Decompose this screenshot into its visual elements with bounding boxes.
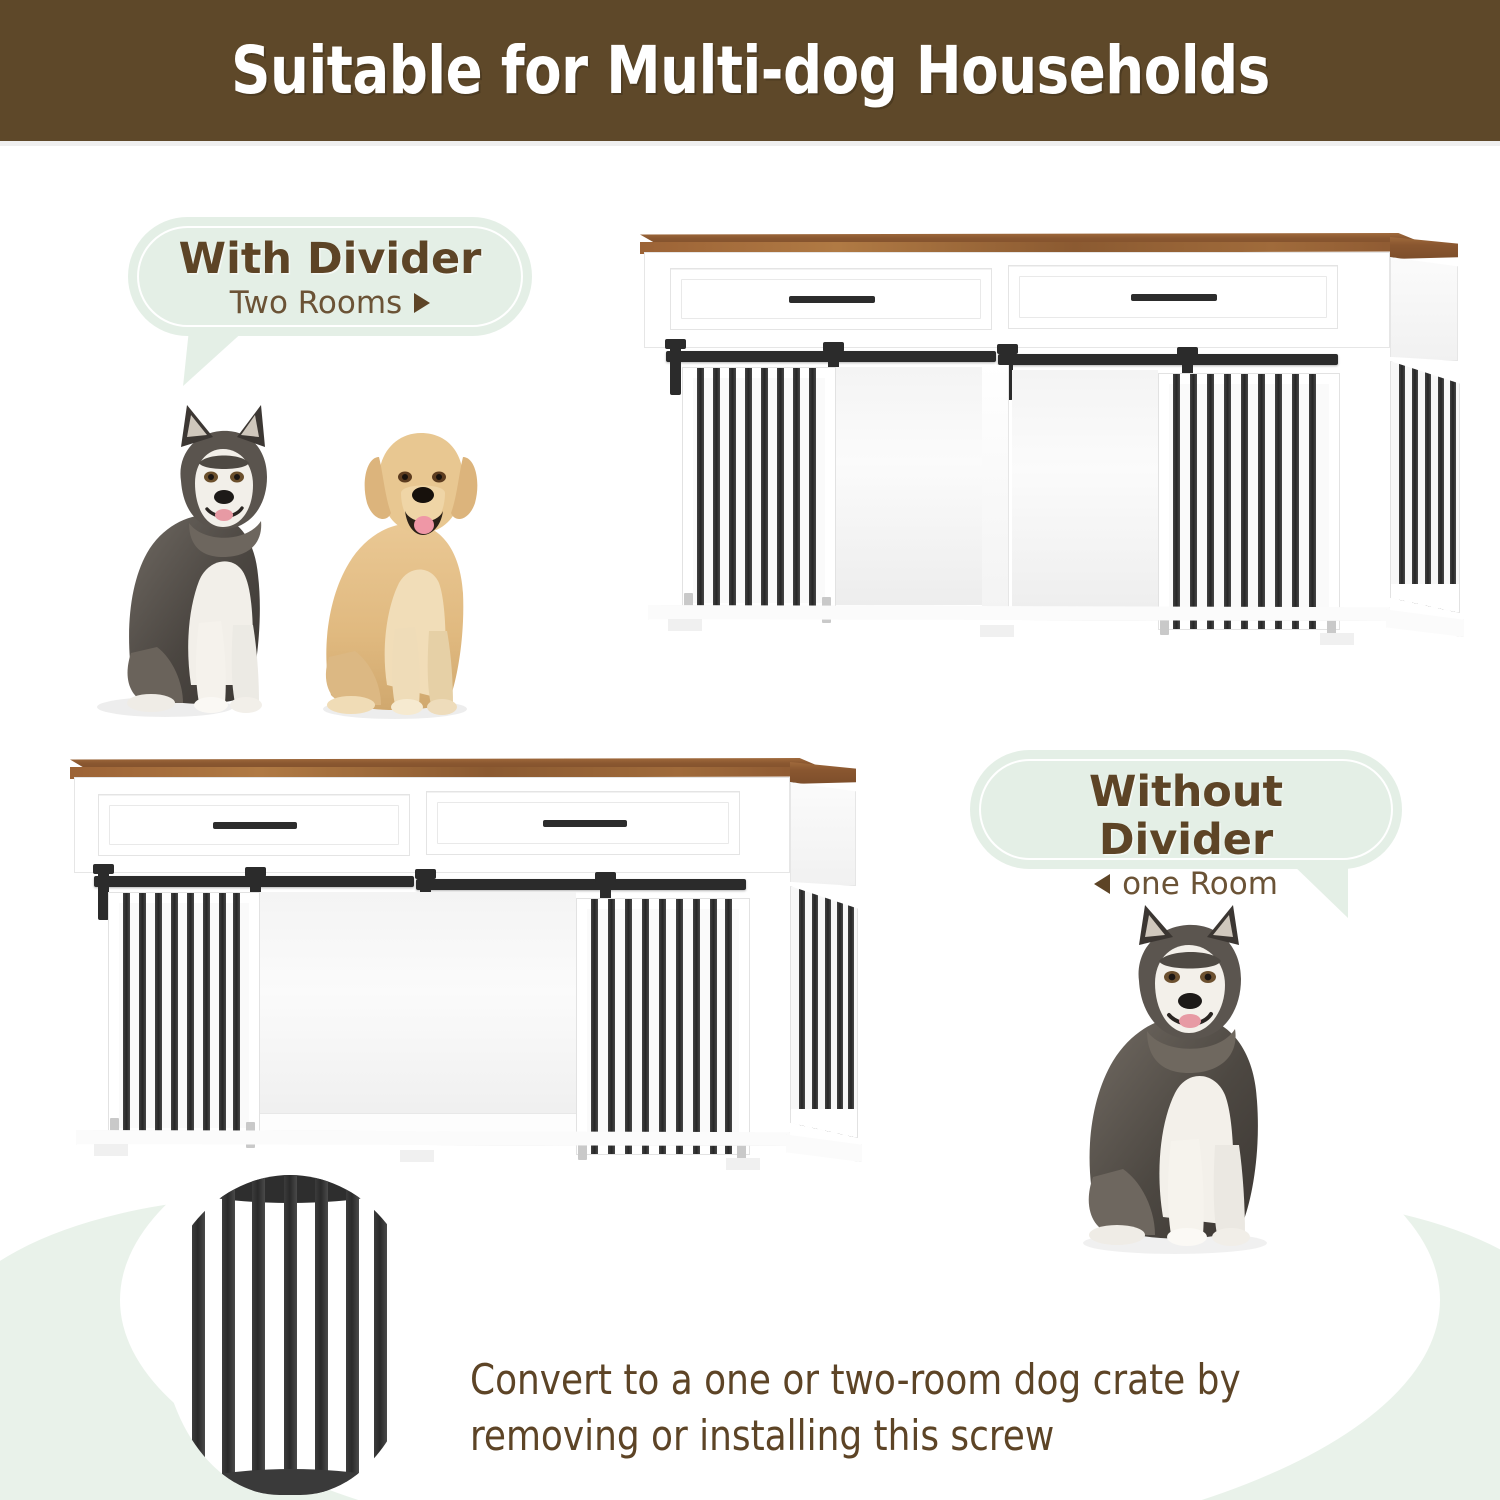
barn-door-hanger-left-a xyxy=(670,343,681,395)
drawer-left[interactable] xyxy=(670,268,992,330)
cabinet-drawer-band-right-side xyxy=(1390,257,1458,361)
sliding-door-left[interactable] xyxy=(682,367,836,614)
crate-foot-right-2 xyxy=(726,1158,760,1170)
dog-pair-illustration xyxy=(95,385,515,725)
caption-line-2: removing or installing this screw xyxy=(470,1408,1401,1464)
without-divider-title: Without Divider xyxy=(1004,768,1368,864)
sliding-door-left-2-bars xyxy=(109,893,259,1138)
with-divider-bubble-tail xyxy=(183,330,245,386)
drawer-left-2-handle[interactable] xyxy=(213,822,297,829)
triangle-left-icon xyxy=(1094,874,1110,894)
dog-photo-single xyxy=(1035,905,1315,1260)
drawer-right-handle[interactable] xyxy=(1131,294,1217,301)
room-divider-panel xyxy=(982,365,1008,610)
barn-door-rail-right xyxy=(998,354,1338,365)
sliding-door-right-2-bars xyxy=(577,899,749,1154)
side-barred-panel-right xyxy=(1390,361,1460,613)
side-panel-bars xyxy=(1391,362,1459,612)
dog-single-illustration xyxy=(1035,905,1315,1260)
crate-foot-mid xyxy=(980,625,1014,637)
cabinet-drawer-band-right-side-2 xyxy=(790,782,856,886)
callout-with-divider: With Divider Two Rooms xyxy=(128,217,532,336)
crate-base-front-2 xyxy=(76,1130,790,1146)
drawer-right-2[interactable] xyxy=(426,791,740,855)
triangle-right-icon xyxy=(414,293,430,313)
crate-foot-right xyxy=(1320,633,1354,645)
sliding-door-left-2[interactable] xyxy=(108,892,260,1139)
crate-foot-mid-2 xyxy=(400,1150,434,1162)
without-divider-subtitle-row: one Room xyxy=(1004,866,1368,902)
drawer-left-2[interactable] xyxy=(98,794,410,856)
dog-alaskan-malamute xyxy=(97,405,267,717)
crate-foot-left-2 xyxy=(94,1144,128,1156)
header-banner: Suitable for Multi-dog Households xyxy=(0,0,1500,141)
caption-line-1: Convert to a one or two-room dog crate b… xyxy=(470,1352,1401,1408)
side-barred-panel-right-2 xyxy=(790,886,858,1138)
header-underline xyxy=(0,141,1500,146)
bottom-caption: Convert to a one or two-room dog crate b… xyxy=(470,1352,1401,1464)
crate-bar-closeup xyxy=(160,1175,420,1495)
page-title: Suitable for Multi-dog Households xyxy=(231,32,1270,109)
callout-without-divider: Without Divider one Room xyxy=(970,750,1402,869)
sliding-door-right[interactable] xyxy=(1158,373,1340,630)
wood-tabletop-right-return xyxy=(1390,237,1458,259)
product-image-crate-with-divider xyxy=(630,215,1460,675)
crate-foot-left xyxy=(668,619,702,631)
drawer-right-2-handle[interactable] xyxy=(543,820,627,827)
product-image-crate-without-divider xyxy=(60,742,880,1202)
closeup-bars xyxy=(160,1175,420,1495)
dog-photo-pair xyxy=(95,385,515,725)
sliding-door-right-2[interactable] xyxy=(576,898,750,1155)
dog-yellow-labrador xyxy=(323,433,477,719)
crate-interior-single-room xyxy=(258,892,576,1142)
without-divider-subtitle: one Room xyxy=(1122,866,1278,902)
side-panel-bars-2 xyxy=(791,887,857,1137)
sliding-door-right-bars xyxy=(1159,374,1339,629)
crate-base-front xyxy=(648,605,1390,621)
crate-interior-right-room xyxy=(1012,370,1158,620)
with-divider-subtitle-row: Two Rooms xyxy=(162,285,498,321)
with-divider-title: With Divider xyxy=(162,235,498,283)
drawer-left-handle[interactable] xyxy=(789,296,875,303)
with-divider-subtitle: Two Rooms xyxy=(230,285,402,321)
drawer-right[interactable] xyxy=(1008,265,1338,329)
sliding-door-left-bars xyxy=(683,368,835,613)
barn-door-rail-right-2 xyxy=(416,879,746,890)
wood-tabletop-right-return-2 xyxy=(790,762,856,784)
